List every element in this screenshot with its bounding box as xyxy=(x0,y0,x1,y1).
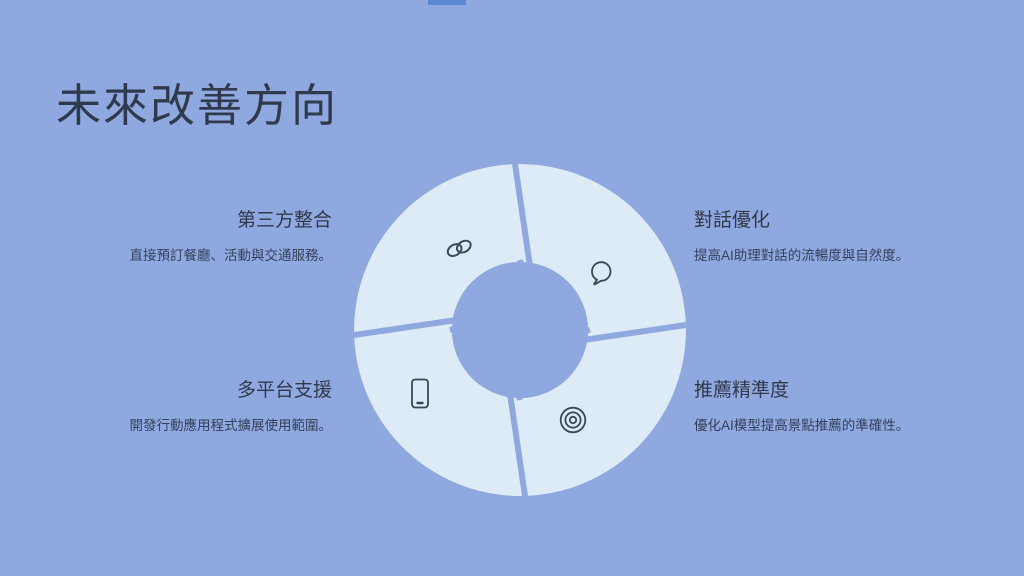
label-title: 第三方整合 xyxy=(32,208,332,234)
label-conversation-optimization: 對話優化 提高AI助理對話的流暢度與自然度。 xyxy=(694,208,994,267)
label-title: 推薦精準度 xyxy=(694,378,994,404)
slide-canvas: 未來改善方向 xyxy=(0,0,1024,576)
segmented-donut-diagram xyxy=(350,160,690,500)
label-description: 開發行動應用程式擴展使用範圍。 xyxy=(32,415,332,437)
label-third-party-integration: 第三方整合 直接預訂餐廳、活動與交通服務。 xyxy=(32,208,332,267)
label-title: 對話優化 xyxy=(694,208,994,234)
label-title: 多平台支援 xyxy=(32,378,332,404)
label-recommendation-accuracy: 推薦精準度 優化AI模型提高景點推薦的準確性。 xyxy=(694,378,994,437)
donut-hub xyxy=(452,262,588,398)
label-description: 直接預訂餐廳、活動與交通服務。 xyxy=(32,245,332,267)
label-multi-platform-support: 多平台支援 開發行動應用程式擴展使用範圍。 xyxy=(32,378,332,437)
label-description: 提高AI助理對話的流暢度與自然度。 xyxy=(694,245,994,267)
page-title: 未來改善方向 xyxy=(56,78,338,134)
label-description: 優化AI模型提高景點推薦的準確性。 xyxy=(694,415,994,437)
slide-progress-indicator[interactable] xyxy=(428,0,466,5)
